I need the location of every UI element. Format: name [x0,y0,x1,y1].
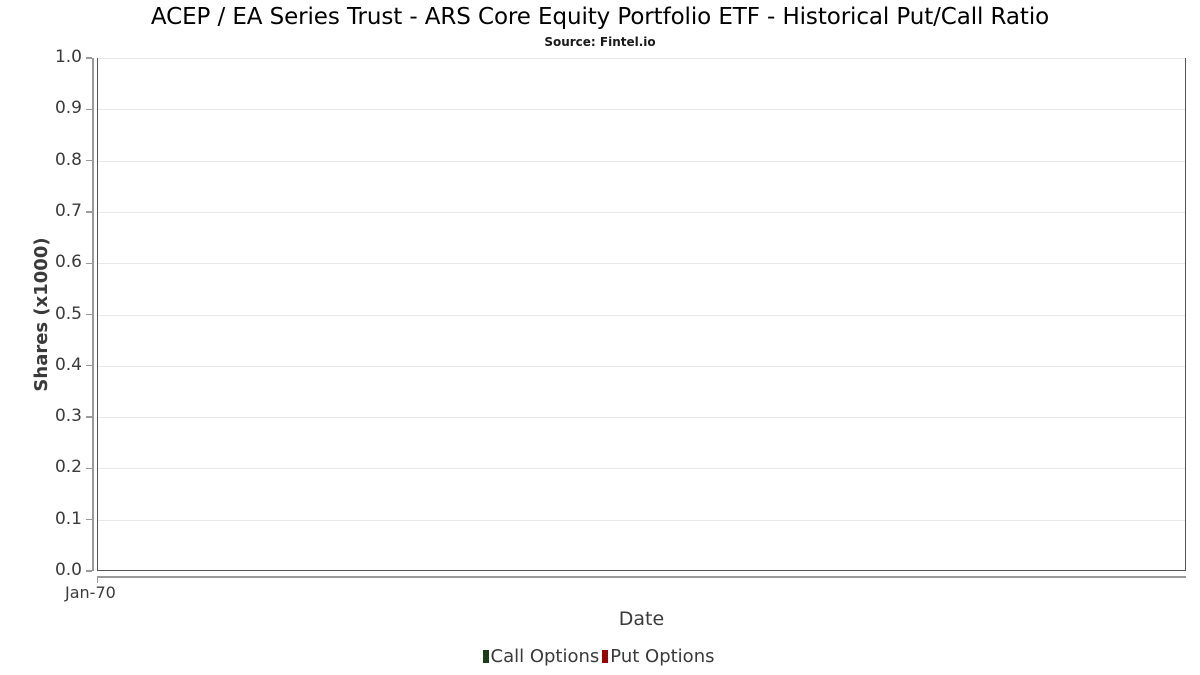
gridline [98,212,1185,213]
y-axis-tick-mark [86,160,92,161]
y-axis-tick-mark [86,365,92,366]
y-axis-tick-mark [86,468,92,469]
gridline [98,58,1185,59]
x-axis-tick-label: Jan-70 [65,583,116,602]
y-axis-title: Shares (x1000) [22,58,62,571]
legend-item-put-options[interactable]: Put Options [602,646,717,667]
y-axis-tick-mark [86,263,92,264]
chart-title: ACEP / EA Series Trust - ARS Core Equity… [0,4,1200,30]
legend-item-call-options[interactable]: Call Options [483,646,603,667]
gridline [98,468,1185,469]
legend-label-call-options: Call Options [491,646,603,667]
y-axis-tick-mark [86,570,92,571]
gridline [98,315,1185,316]
legend-swatch-put-options [602,650,608,663]
gridline [98,161,1185,162]
gridline [98,417,1185,418]
x-axis-title: Date [97,608,1186,630]
y-axis-spine [92,58,94,571]
plot-area [97,58,1186,571]
y-axis-tick-mark [86,314,92,315]
y-axis-tick-mark [86,416,92,417]
gridline [98,109,1185,110]
legend-swatch-call-options [483,650,489,663]
legend-label-put-options: Put Options [610,646,717,667]
gridline [98,520,1185,521]
chart-legend: Call Options Put Options [0,646,1200,667]
x-axis-spine [97,576,1186,578]
y-axis-tick-mark [86,211,92,212]
y-axis-tick-mark [86,57,92,58]
chart-source-subtitle: Source: Fintel.io [0,35,1200,49]
y-axis-tick-mark [86,519,92,520]
gridline [98,366,1185,367]
y-axis-tick-mark [86,109,92,110]
gridline [98,263,1185,264]
